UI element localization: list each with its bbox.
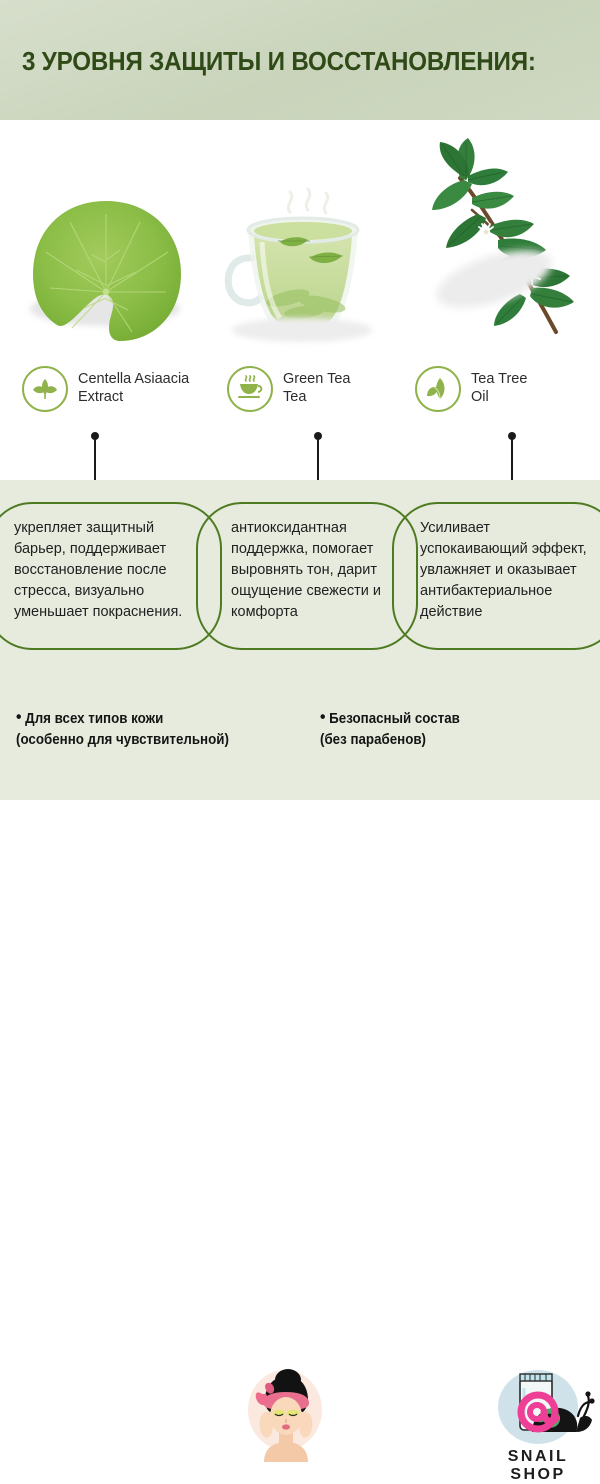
three-leaf-sprig-icon (22, 366, 68, 412)
connector-line (94, 439, 96, 484)
connector-line (317, 439, 319, 484)
cup-shadow (232, 318, 372, 342)
ingredient-label-line1: Tea Tree (471, 371, 527, 387)
claim-left-line2: (особенно для чувствительной) (16, 732, 229, 748)
tea-cup-steam-icon (227, 366, 273, 412)
ingredient-centella: Centella Asiaacia Extract (22, 366, 189, 412)
infographic-page: 3 УРОВНЯ ЗАЩИТЫ И ВОССТАНОВЛЕНИЯ: (0, 0, 600, 800)
page-title: 3 УРОВНЯ ЗАЩИТЫ И ВОССТАНОВЛЕНИЯ: (22, 46, 548, 77)
centella-leaf-graphic (32, 200, 182, 342)
brand-name: SNAIL SHOP (480, 1448, 596, 1484)
footer-section: • Для всех типов кожи (особенно для чувс… (0, 678, 600, 800)
claim-all-skin-types: • Для всех типов кожи (особенно для чувс… (16, 706, 229, 751)
ingredient-labels-row: Centella Asiaacia Extract Green T (0, 366, 600, 436)
benefit-text-2: антиоксидантная поддержка, помогает выро… (231, 518, 403, 623)
ingredient-green-tea: Green Tea Tea (227, 366, 350, 412)
green-tea-cup-illustration (218, 186, 390, 352)
ingredient-label-line2: Oil (471, 389, 489, 405)
ingredient-label-text: Centella Asiaacia Extract (78, 366, 189, 406)
ingredient-tea-tree: Tea Tree Oil (415, 366, 527, 412)
header-band: 3 УРОВНЯ ЗАЩИТЫ И ВОССТАНОВЛЕНИЯ: (0, 0, 600, 120)
woman-face-mask-illustration (248, 1366, 322, 1462)
bullet-icon: • (16, 707, 21, 726)
claim-right-line2: (без парабенов) (320, 732, 426, 748)
bullet-icon: • (320, 707, 325, 726)
ingredient-label-line1: Centella Asiaacia (78, 371, 189, 387)
benefit-text-3: Усиливает успокаивающий эффект, увлажняе… (420, 518, 596, 623)
centella-leaf-illustration (24, 196, 194, 346)
ingredient-label-line1: Green Tea (283, 371, 350, 387)
claim-left-line1: Для всех типов кожи (25, 711, 163, 727)
claim-safe-formula: • Безопасный состав (без парабенов) (320, 706, 460, 751)
connector-line (511, 439, 513, 484)
benefit-text-1: укрепляет защитный барьер, поддерживает … (14, 518, 200, 623)
claim-right-line1: Безопасный состав (329, 711, 460, 727)
ingredient-label-line2: Extract (78, 389, 123, 405)
tea-tree-branch-illustration (424, 136, 586, 336)
ingredient-label-text: Tea Tree Oil (471, 366, 527, 406)
two-leaf-icon (415, 366, 461, 412)
snail-shop-logo: SNAIL SHOP (480, 1370, 596, 1474)
ingredient-label-text: Green Tea Tea (283, 366, 350, 406)
ingredient-label-line2: Tea (283, 389, 306, 405)
